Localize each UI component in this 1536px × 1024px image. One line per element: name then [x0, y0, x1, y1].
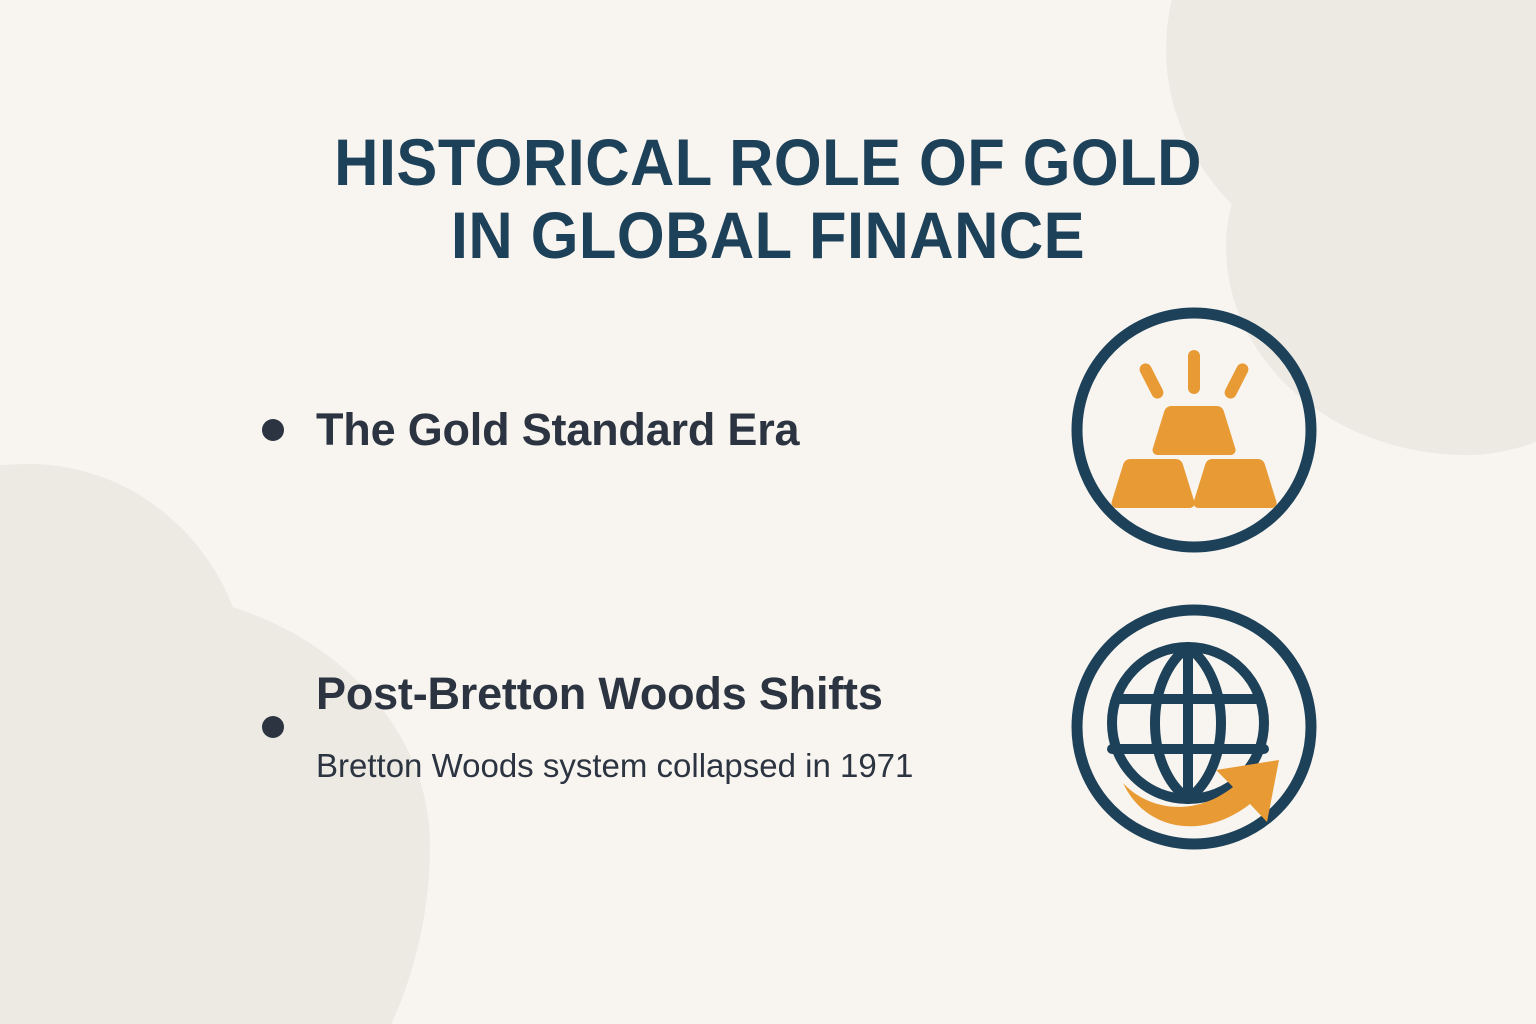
bullet-heading: The Gold Standard Era [316, 403, 1026, 458]
bullet-text-block: Post-Bretton Woods Shifts Bretton Woods … [316, 667, 1026, 787]
bullet-row-post-bretton-woods: Post-Bretton Woods Shifts Bretton Woods … [262, 596, 1322, 858]
gold-bars-icon [1066, 302, 1322, 558]
bullet-point-icon [262, 716, 284, 738]
bullet-text-group: Post-Bretton Woods Shifts Bretton Woods … [262, 667, 1026, 787]
bullet-point-icon [262, 419, 284, 441]
slide-title: HISTORICAL ROLE OF GOLD IN GLOBAL FINANC… [54, 126, 1482, 271]
bullet-subtext: Bretton Woods system collapsed in 1971 [316, 744, 956, 788]
globe-growth-arrow-icon [1066, 599, 1322, 855]
bullet-heading: Post-Bretton Woods Shifts [316, 667, 1026, 722]
bullet-text-group: The Gold Standard Era [262, 403, 1026, 458]
bullet-text-block: The Gold Standard Era [316, 403, 1026, 458]
slide-canvas: HISTORICAL ROLE OF GOLD IN GLOBAL FINANC… [0, 0, 1536, 1024]
decorative-blob-bottom-left-secondary [0, 464, 250, 894]
bullet-row-gold-standard: The Gold Standard Era [262, 300, 1322, 560]
